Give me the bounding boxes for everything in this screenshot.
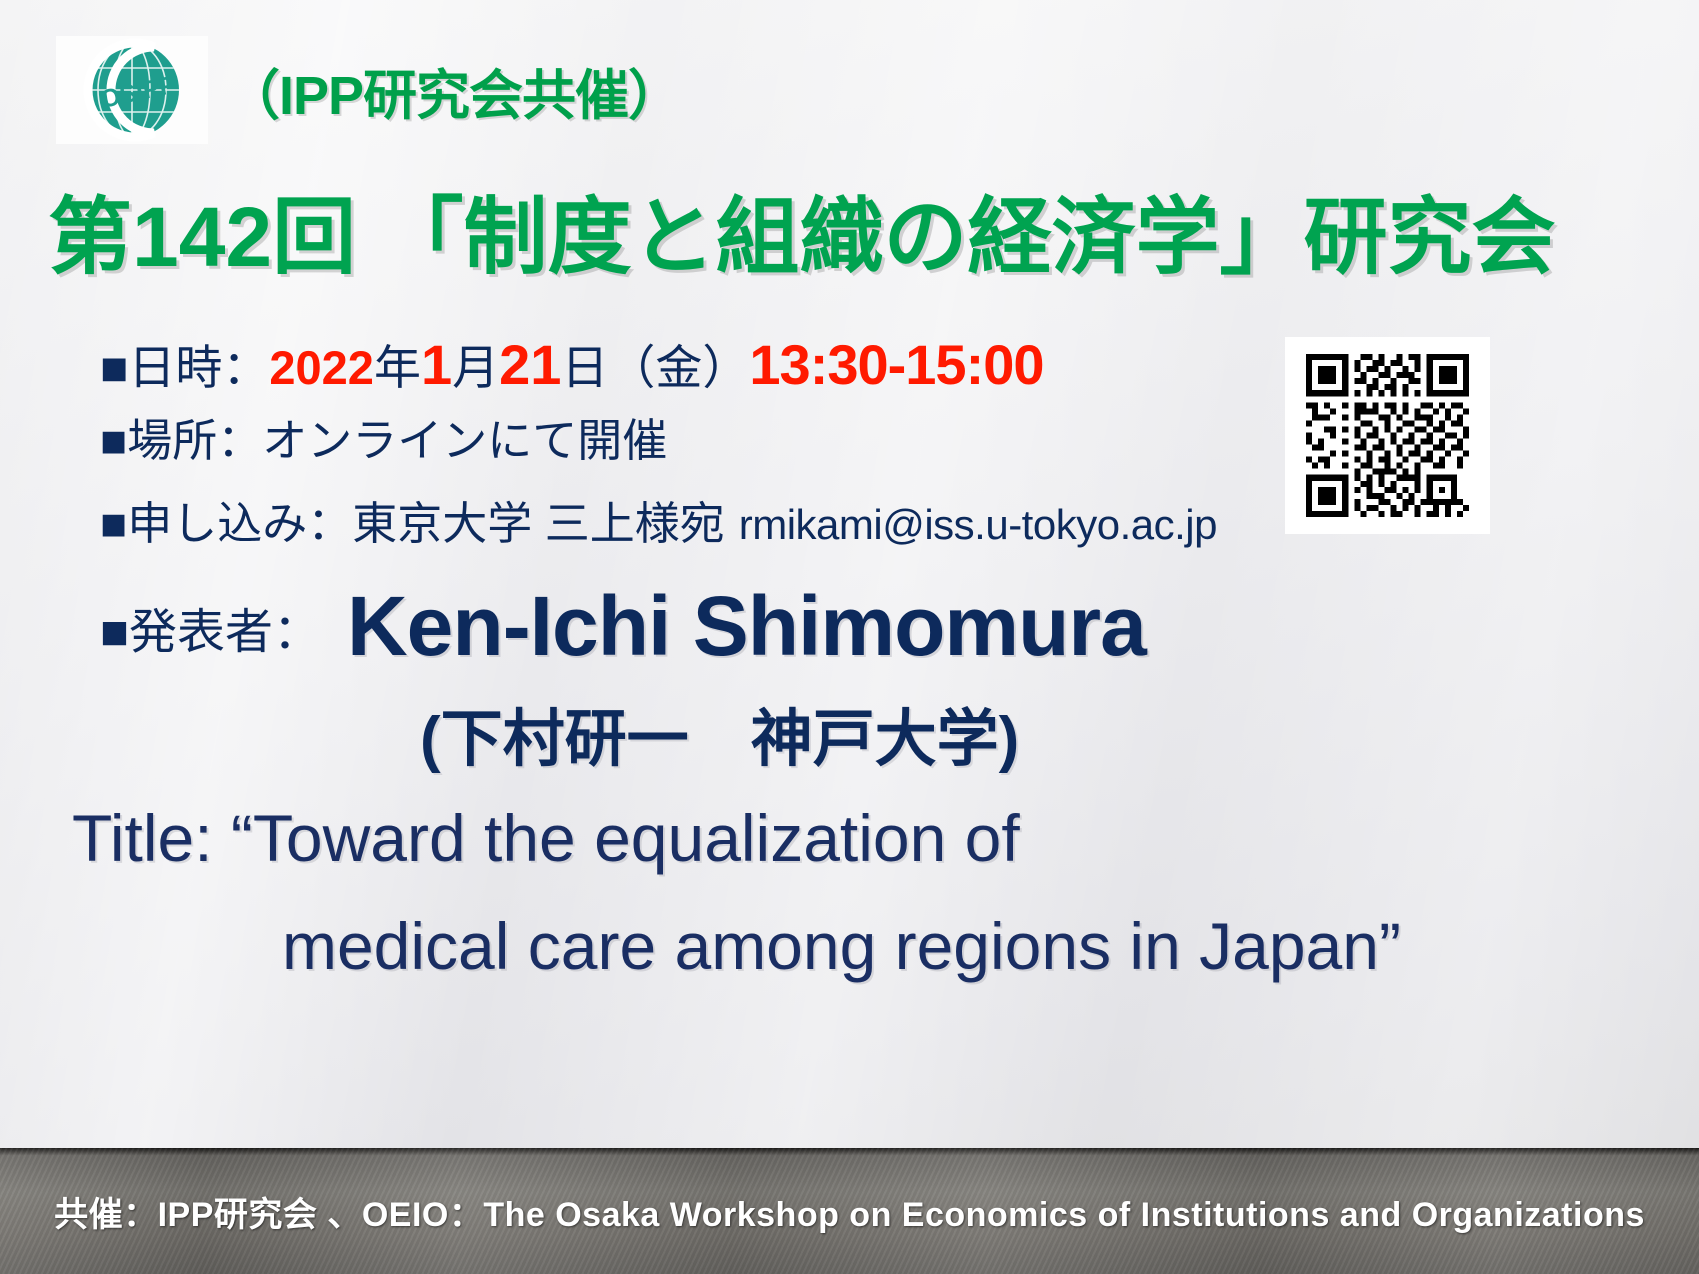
detail-venue: ■ 場所： オンラインにて開催 xyxy=(100,411,1217,472)
apply-label: 申し込み： xyxy=(127,494,352,555)
detail-apply: ■ 申し込み： 東京大学 三上様宛 rmikami@iss.u-tokyo.ac… xyxy=(100,494,1217,555)
event-details: ■ 日時： 2022 年 1 月 21 日 （金） 13:30-15:00 ■ … xyxy=(100,330,1217,555)
datetime-label: 日時： xyxy=(128,339,269,397)
datetime-day: 21 xyxy=(499,330,561,399)
datetime-weekday: （金） xyxy=(608,339,749,397)
speaker-name-en: Ken-Ichi Shimomura xyxy=(347,578,1146,675)
speaker-label: ■発表者： xyxy=(100,592,321,662)
datetime-month: 1 xyxy=(421,330,452,399)
qr-code-icon xyxy=(1296,348,1479,523)
bullet-square-icon: ■ xyxy=(100,339,128,397)
cohost-note: （IPP研究会共催） xyxy=(226,51,681,130)
venue-label: 場所： xyxy=(127,411,262,472)
apply-email-link[interactable]: rmikami@iss.u-tokyo.ac.jp xyxy=(739,497,1217,554)
datetime-month-unit: 月 xyxy=(452,339,499,397)
datetime-year-unit: 年 xyxy=(374,339,421,397)
talk-title: Title: “Toward the equalization of medic… xyxy=(72,800,1401,984)
qr-code[interactable] xyxy=(1285,337,1490,534)
footer-band: 共催：IPP研究会 、OEIO：The Osaka Workshop on Ec… xyxy=(0,1148,1699,1274)
talk-title-line1: Title: “Toward the equalization of xyxy=(72,800,1401,876)
datetime-year: 2022 xyxy=(269,339,374,397)
osipp-globe-icon: OSIPP xyxy=(56,36,208,144)
osipp-logo: OSIPP xyxy=(56,36,208,144)
datetime-day-unit: 日 xyxy=(561,339,608,397)
talk-title-line2: medical care among regions in Japan” xyxy=(72,908,1401,984)
poster-canvas: OSIPP （IPP研究会共催） 第142回 「制度と組織の経済学」研究会 ■ … xyxy=(0,0,1699,1274)
page-title: 第142回 「制度と組織の経済学」研究会 xyxy=(48,170,1556,291)
speaker-row: ■発表者： Ken-Ichi Shimomura xyxy=(100,578,1146,675)
venue-value: オンラインにて開催 xyxy=(262,411,667,472)
datetime-time: 13:30-15:00 xyxy=(749,330,1043,399)
header-row: OSIPP （IPP研究会共催） xyxy=(56,36,681,144)
footer-cohost-text: 共催：IPP研究会 、OEIO：The Osaka Workshop on Ec… xyxy=(54,1187,1645,1236)
apply-value: 東京大学 三上様宛 xyxy=(352,494,725,555)
speaker-name-jp: (下村研一 神戸大学) xyxy=(420,688,1019,778)
bullet-square-icon: ■ xyxy=(100,411,127,472)
detail-datetime: ■ 日時： 2022 年 1 月 21 日 （金） 13:30-15:00 xyxy=(100,330,1217,399)
bullet-square-icon: ■ xyxy=(100,494,127,555)
